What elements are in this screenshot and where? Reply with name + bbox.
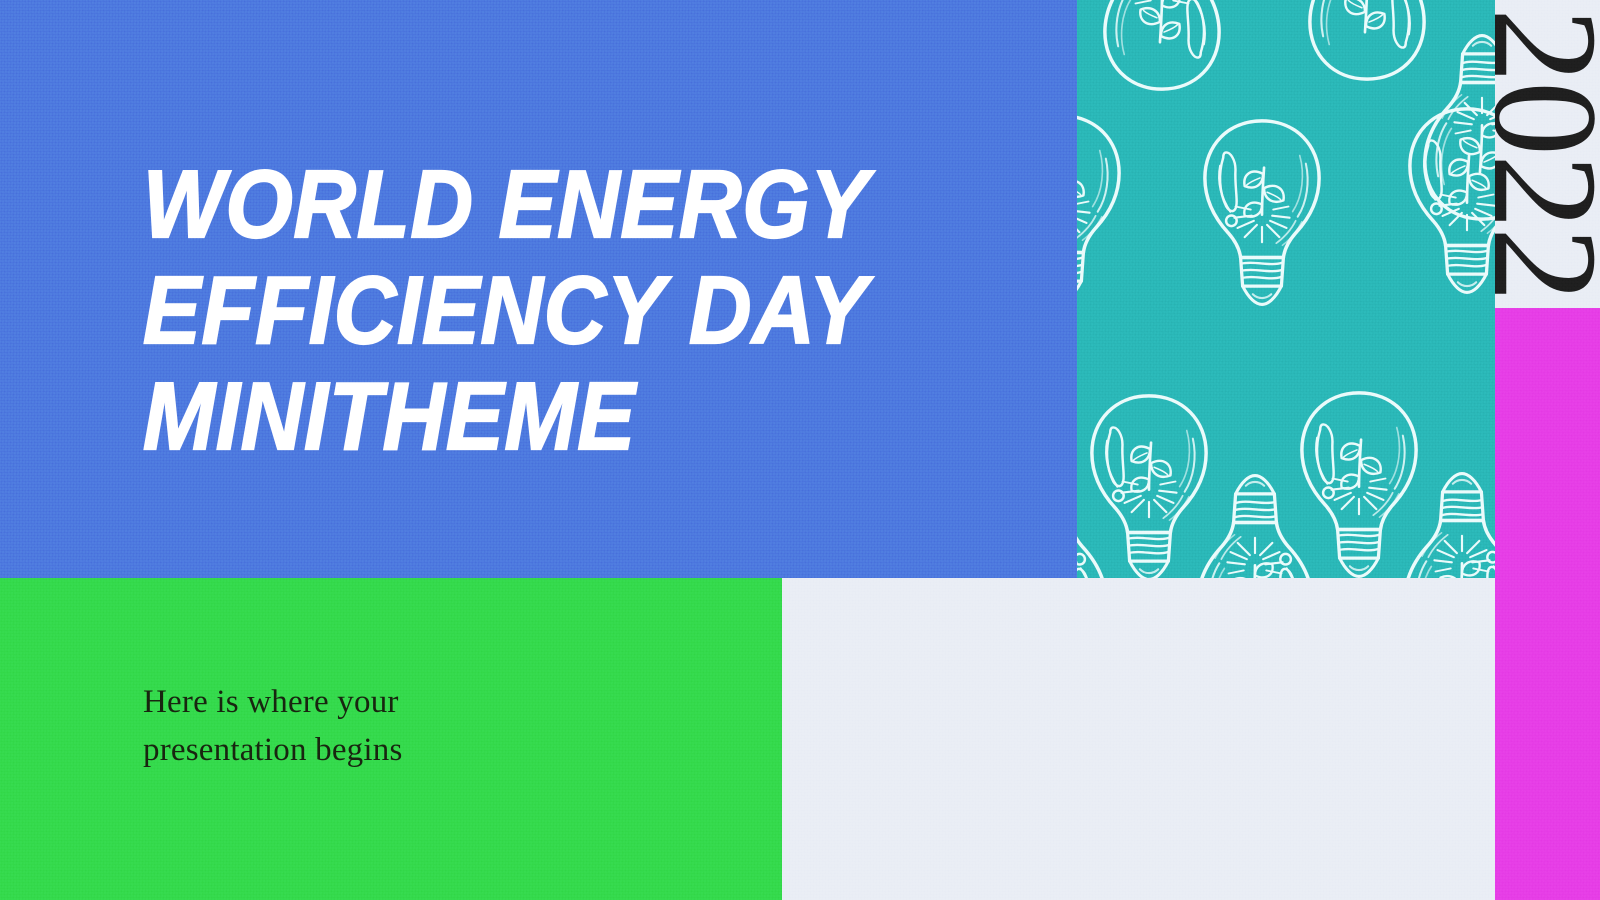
year-panel: 2022 bbox=[1495, 0, 1600, 308]
title-line-3: MINITHEME bbox=[143, 364, 935, 470]
presentation-slide: WORLD ENERGY EFFICIENCY DAY MINITHEME bbox=[0, 0, 1600, 900]
magenta-accent-bar bbox=[1495, 308, 1600, 900]
title-panel: WORLD ENERGY EFFICIENCY DAY MINITHEME bbox=[0, 0, 1077, 578]
title-line-2: EFFICIENCY DAY bbox=[143, 258, 935, 364]
subtitle-panel: Here is where your presentation begins bbox=[0, 578, 782, 900]
year-label: 2022 bbox=[1495, 8, 1600, 300]
title-line-1: WORLD ENERGY bbox=[143, 152, 935, 258]
slide-title: WORLD ENERGY EFFICIENCY DAY MINITHEME bbox=[143, 152, 1023, 470]
lightbulb-pattern-graphic bbox=[1077, 0, 1495, 578]
bottom-light-panel bbox=[782, 578, 1495, 900]
lightbulb-pattern-panel bbox=[1077, 0, 1495, 578]
subtitle-line-2: presentation begins bbox=[143, 726, 563, 774]
slide-subtitle: Here is where your presentation begins bbox=[143, 678, 563, 774]
subtitle-line-1: Here is where your bbox=[143, 678, 563, 726]
